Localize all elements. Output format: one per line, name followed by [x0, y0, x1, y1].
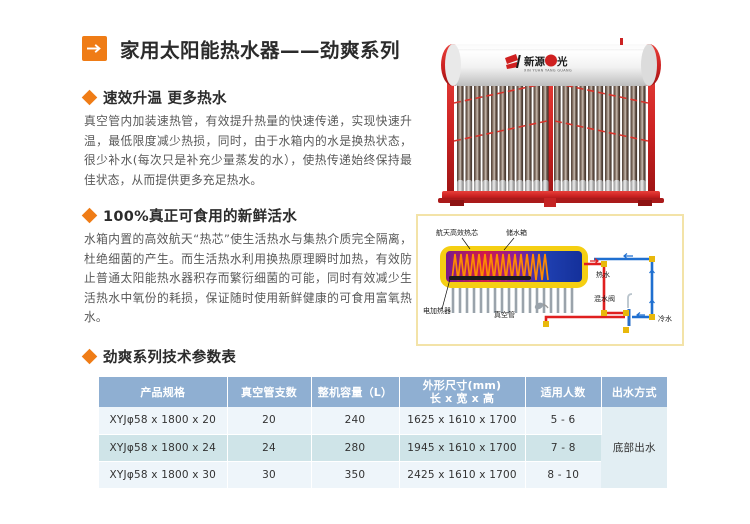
section-heading-1: 速效升温 更多热水	[84, 87, 227, 108]
diagram-label-electric-heater: 电加热器	[423, 306, 451, 316]
diamond-bullet-icon	[82, 90, 98, 106]
diagram-label-mixing-valve: 混水阀	[594, 294, 615, 304]
cell-people: 5 - 6	[525, 407, 601, 434]
col-header-tubes: 真空管支数	[227, 377, 311, 407]
col-header-people: 适用人数	[525, 377, 601, 407]
diagram-label-heat-core: 航天高效热芯	[436, 228, 478, 238]
working-principle-diagram: 航天高效热芯 储水箱 电加热器 真空管 热水 混水阀 冷水	[416, 214, 684, 346]
table-row: XYJφ58 x 1800 x 24 24 280 1945 x 1610 x …	[99, 434, 667, 461]
cell-capacity: 240	[311, 407, 399, 434]
diagram-label-vacuum-tube: 真空管	[494, 310, 515, 320]
cell-model: XYJφ58 x 1800 x 30	[99, 461, 227, 488]
cell-people: 7 - 8	[525, 434, 601, 461]
section-2-body: 水箱内置的高效航天“热芯”使生活热水与集热介质完全隔离，杜绝细菌的产生。而生活热…	[84, 230, 412, 328]
spec-table-title: 劲爽系列技术参数表	[103, 346, 236, 367]
cell-dimensions: 1945 x 1610 x 1700	[399, 434, 525, 461]
diamond-bullet-icon	[82, 208, 98, 224]
cell-tubes: 30	[227, 461, 311, 488]
section-heading-3: 劲爽系列技术参数表	[84, 346, 236, 367]
spec-table: 产品规格 真空管支数 整机容量（L） 外形尺寸(mm) 长 x 宽 x 高 适用…	[99, 377, 667, 489]
diagram-label-tank: 储水箱	[506, 228, 527, 238]
cell-model: XYJφ58 x 1800 x 24	[99, 434, 227, 461]
product-photo: 新源 光 XIN YUAN YANG GUANG	[420, 28, 682, 210]
diagram-label-hot-water: 热水	[596, 270, 610, 280]
diagram-label-cold-water: 冷水	[658, 314, 672, 324]
cell-outlet-method: 底部出水	[601, 407, 667, 488]
cell-capacity: 350	[311, 461, 399, 488]
table-row: XYJφ58 x 1800 x 30 30 350 2425 x 1610 x …	[99, 461, 667, 488]
arrow-right-icon	[82, 36, 107, 61]
cell-people: 8 - 10	[525, 461, 601, 488]
section-1-title: 速效升温 更多热水	[103, 87, 227, 108]
page-title: 家用太阳能热水器——劲爽系列	[120, 34, 400, 63]
solar-water-heater-illustration: 新源 光 XIN YUAN YANG GUANG	[420, 28, 682, 210]
col-header-outlet: 出水方式	[601, 377, 667, 407]
page-title-row: 家用太阳能热水器——劲爽系列	[82, 34, 400, 63]
cell-tubes: 24	[227, 434, 311, 461]
section-heading-2: 100%真正可食用的新鲜活水	[84, 205, 297, 226]
svg-text:XIN YUAN YANG GUANG: XIN YUAN YANG GUANG	[524, 69, 572, 73]
cell-capacity: 280	[311, 434, 399, 461]
section-2-title: 100%真正可食用的新鲜活水	[103, 205, 297, 226]
svg-text:光: 光	[556, 55, 568, 68]
product-detail-page: 家用太阳能热水器——劲爽系列 速效升温 更多热水 真空管内加装速热管，有效提升热…	[0, 0, 750, 524]
cell-dimensions: 1625 x 1610 x 1700	[399, 407, 525, 434]
col-header-dimensions: 外形尺寸(mm) 长 x 宽 x 高	[399, 377, 525, 407]
col-header-dimensions-line2: 长 x 宽 x 高	[402, 392, 523, 405]
diamond-bullet-icon	[82, 349, 98, 365]
col-header-capacity: 整机容量（L）	[311, 377, 399, 407]
svg-text:新源: 新源	[524, 55, 545, 68]
cell-tubes: 20	[227, 407, 311, 434]
cell-dimensions: 2425 x 1610 x 1700	[399, 461, 525, 488]
col-header-model: 产品规格	[99, 377, 227, 407]
table-row: XYJφ58 x 1800 x 20 20 240 1625 x 1610 x …	[99, 407, 667, 434]
table-header-row: 产品规格 真空管支数 整机容量（L） 外形尺寸(mm) 长 x 宽 x 高 适用…	[99, 377, 667, 407]
col-header-dimensions-line1: 外形尺寸(mm)	[402, 379, 523, 392]
cell-model: XYJφ58 x 1800 x 20	[99, 407, 227, 434]
section-1-body: 真空管内加装速热管，有效提升热量的快速传递，实现快速升温，最低限度减少热损，同时…	[84, 112, 412, 190]
